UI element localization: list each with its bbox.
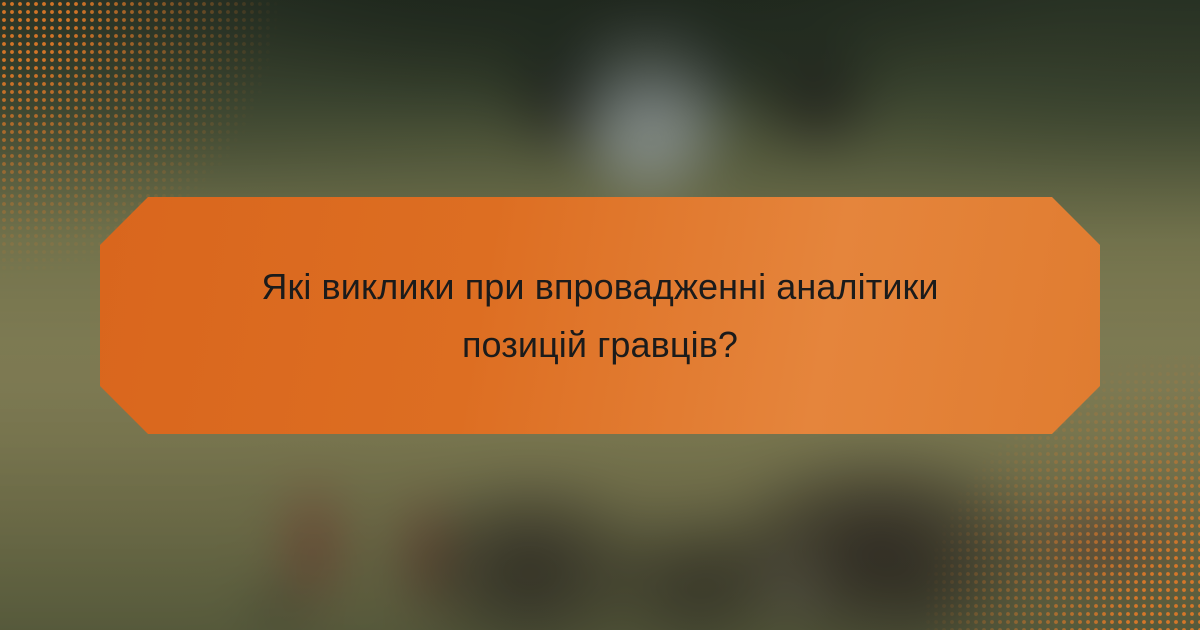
question-banner: Які виклики при впровадженні аналітики п… (100, 197, 1100, 434)
social-card: Які виклики при впровадженні аналітики п… (0, 0, 1200, 630)
question-title: Які виклики при впровадженні аналітики п… (170, 258, 1030, 374)
